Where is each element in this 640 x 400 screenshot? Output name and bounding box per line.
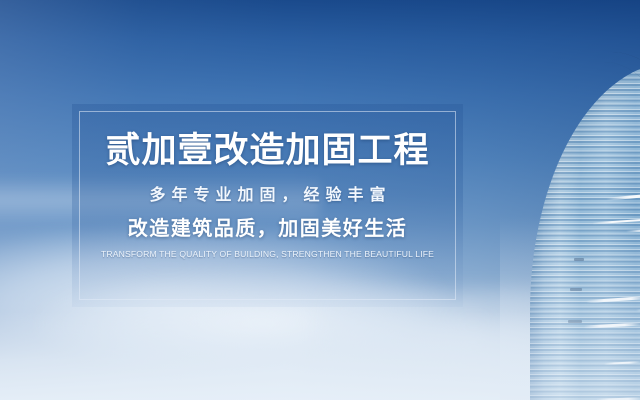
skyscraper-image: [500, 0, 640, 400]
banner-subtitle: 多年专业加固，经验丰富: [143, 187, 391, 205]
tower-body: [530, 62, 640, 400]
hero-banner: 贰加壹改造加固工程 多年专业加固，经验丰富 改造建筑品质，加固美好生活 TRAN…: [0, 0, 640, 400]
window-notch: [574, 258, 584, 261]
window-notch: [570, 288, 582, 291]
banner-english-text: TRANSFORM THE QUALITY OF BUILDING, STREN…: [101, 249, 434, 259]
tower-edge-seam-secondary: [540, 62, 640, 400]
window-notch: [568, 320, 582, 323]
banner-text-block: 贰加壹改造加固工程 多年专业加固，经验丰富 改造建筑品质，加固美好生活 TRAN…: [72, 104, 463, 307]
banner-title: 贰加壹改造加固工程: [105, 132, 429, 170]
banner-slogan: 改造建筑品质，加固美好生活: [128, 218, 408, 240]
